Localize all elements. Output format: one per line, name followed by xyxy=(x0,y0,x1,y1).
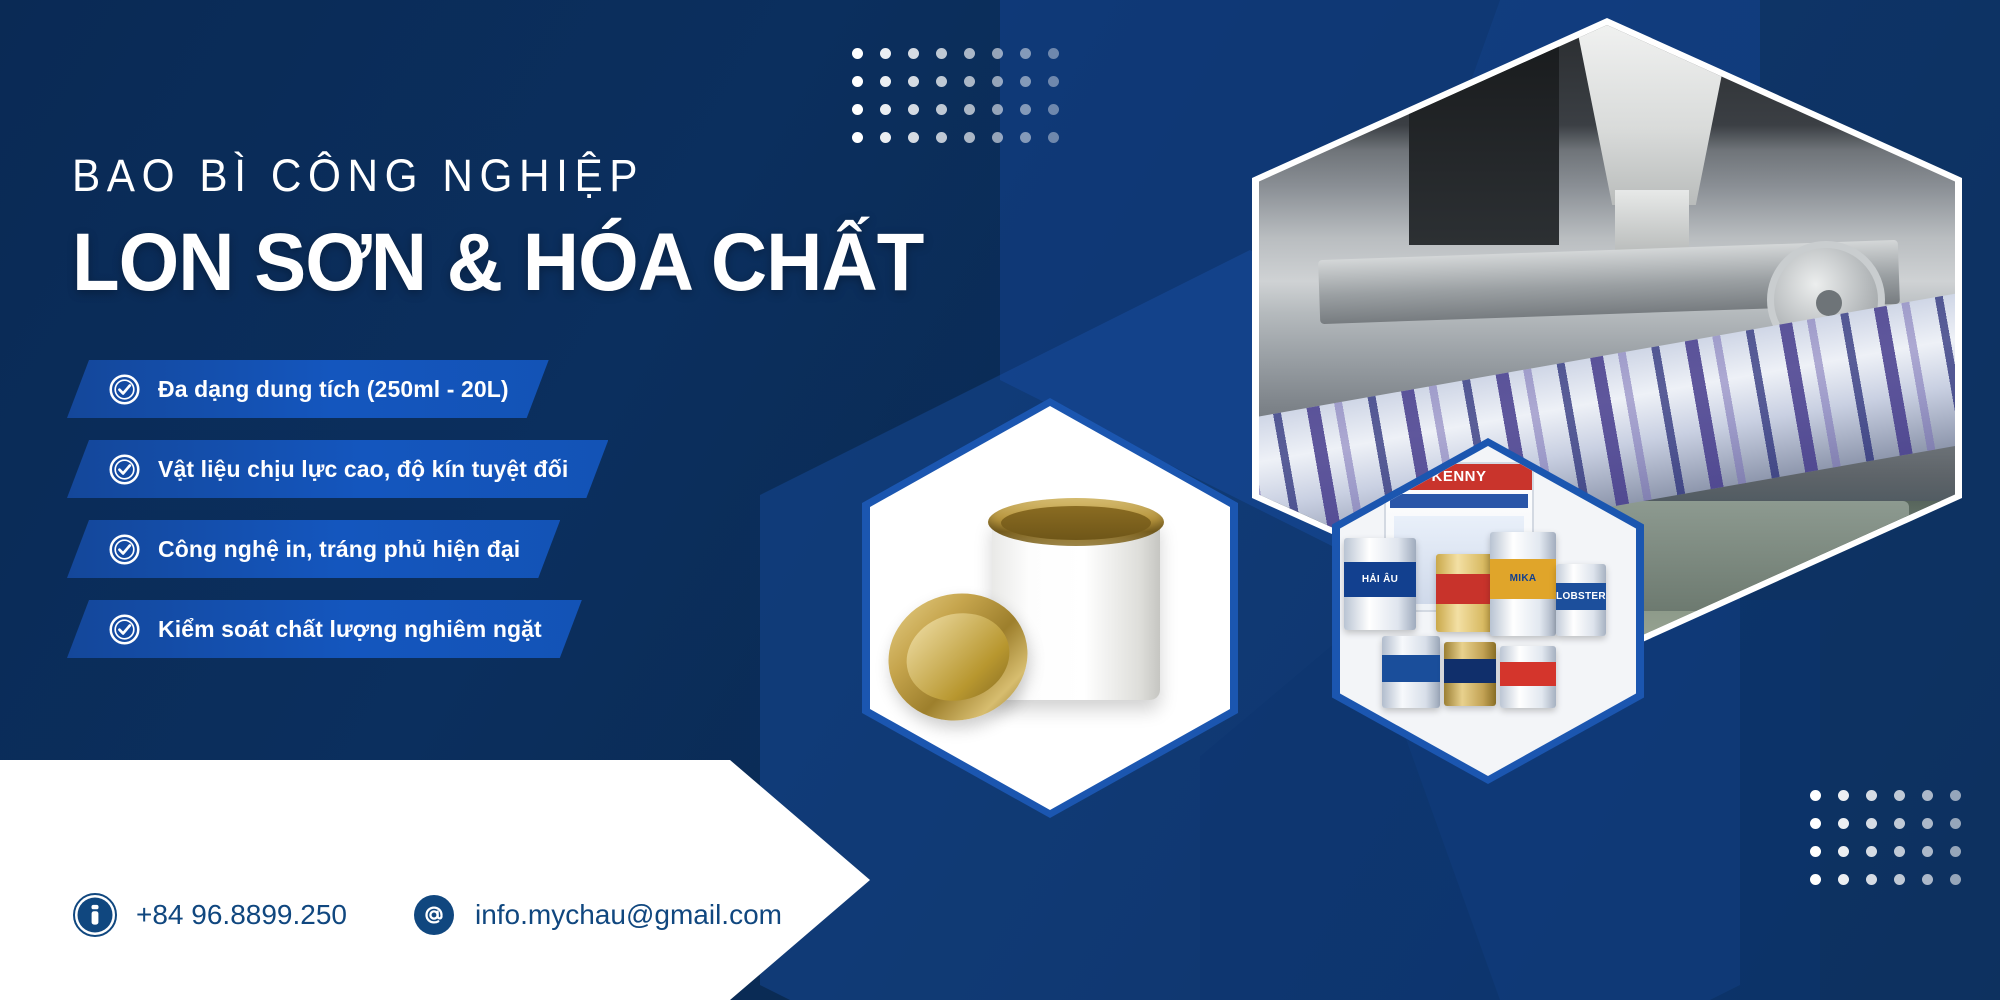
product-tin-label: MIKA xyxy=(1490,559,1556,599)
decor-dot xyxy=(1894,874,1905,885)
feature-pill-label: Đa dạng dung tích (250ml - 20L) xyxy=(158,376,509,403)
product-tin-label: LOBSTER xyxy=(1556,583,1606,610)
eyebrow-text: BAO BÌ CÔNG NGHIỆP xyxy=(72,150,644,202)
product-tin: HẢI ÂU xyxy=(1344,538,1416,630)
feature-pill-label: Vật liệu chịu lực cao, độ kín tuyệt đối xyxy=(158,456,568,483)
check-circle-icon xyxy=(109,534,140,565)
banner-root: KENNY HẢI ÂU MIKA LOBSTER BAO BÌ CÔNG NG… xyxy=(0,0,2000,1000)
decor-dot xyxy=(1838,874,1849,885)
decor-dot xyxy=(1020,48,1031,59)
decor-dot xyxy=(1020,132,1031,143)
product-tin xyxy=(1500,646,1556,708)
product-tin xyxy=(1436,554,1498,632)
decor-dot xyxy=(1048,104,1059,115)
decor-dot xyxy=(1810,790,1821,801)
product-label-band xyxy=(1390,494,1528,508)
headline-block: BAO BÌ CÔNG NGHIỆP LON SƠN & HÓA CHẤT Đa… xyxy=(72,0,972,1000)
check-circle-icon xyxy=(109,614,140,645)
decor-dot xyxy=(1838,790,1849,801)
decor-dot xyxy=(992,132,1003,143)
decor-dot xyxy=(1866,818,1877,829)
product-tin: MIKA xyxy=(1490,532,1556,636)
contact-bar: +84 96.8899.250 info.mychau@gmail.com xyxy=(72,892,782,938)
decor-dot xyxy=(1894,790,1905,801)
decor-dot xyxy=(1922,874,1933,885)
feature-pill-label: Kiểm soát chất lượng nghiêm ngặt xyxy=(158,616,542,643)
decor-dot xyxy=(1866,790,1877,801)
decor-dot xyxy=(1838,846,1849,857)
product-tin xyxy=(1444,642,1496,706)
decor-dot xyxy=(1950,846,1961,857)
decor-dot xyxy=(992,104,1003,115)
decor-dot xyxy=(1922,790,1933,801)
product-tin xyxy=(1382,636,1440,708)
decor-dot xyxy=(1922,846,1933,857)
feature-pill[interactable]: Công nghệ in, tráng phủ hiện đại xyxy=(67,520,560,578)
decor-dot xyxy=(992,48,1003,59)
decor-dot xyxy=(1894,846,1905,857)
at-sign-icon xyxy=(411,892,457,938)
decor-dot xyxy=(1838,818,1849,829)
decor-dot xyxy=(1866,874,1877,885)
feature-list: Đa dạng dung tích (250ml - 20L) Vật liệu… xyxy=(67,360,707,680)
decor-dot xyxy=(992,76,1003,87)
product-tin-label xyxy=(1500,662,1556,686)
decor-dot xyxy=(1048,48,1059,59)
decor-dot xyxy=(1810,874,1821,885)
check-circle-icon xyxy=(109,454,140,485)
product-tin-label: HẢI ÂU xyxy=(1344,562,1416,597)
feature-pill[interactable]: Đa dạng dung tích (250ml - 20L) xyxy=(67,360,549,418)
decor-dot xyxy=(1020,104,1031,115)
can-interior xyxy=(1001,506,1151,540)
product-tin-label xyxy=(1436,574,1498,604)
decor-dot xyxy=(1866,846,1877,857)
product-tin-label xyxy=(1382,655,1440,682)
decor-dot xyxy=(1048,76,1059,87)
product-tin-label xyxy=(1444,659,1496,683)
decor-dot xyxy=(1950,790,1961,801)
feature-pill-label: Công nghệ in, tráng phủ hiện đại xyxy=(158,536,520,563)
decor-dot xyxy=(1950,874,1961,885)
product-tin: LOBSTER xyxy=(1556,564,1606,636)
contact-email-value: info.mychau@gmail.com xyxy=(475,899,782,931)
decor-dot xyxy=(1048,132,1059,143)
decor-dot xyxy=(1894,818,1905,829)
contact-email[interactable]: info.mychau@gmail.com xyxy=(411,892,782,938)
decor-dot xyxy=(1810,818,1821,829)
dot-grid-bottom xyxy=(1810,790,1961,885)
contact-phone[interactable]: +84 96.8899.250 xyxy=(72,892,347,938)
decor-dot xyxy=(1020,76,1031,87)
decor-dot xyxy=(1950,818,1961,829)
page-title: LON SƠN & HÓA CHẤT xyxy=(72,222,923,304)
decor-dot xyxy=(1810,846,1821,857)
contact-phone-value: +84 96.8899.250 xyxy=(136,899,347,931)
decor-dot xyxy=(1922,818,1933,829)
feature-pill[interactable]: Kiểm soát chất lượng nghiêm ngặt xyxy=(67,600,582,658)
check-circle-icon xyxy=(109,374,140,405)
phone-circle-icon xyxy=(72,892,118,938)
feature-pill[interactable]: Vật liệu chịu lực cao, độ kín tuyệt đối xyxy=(67,440,608,498)
